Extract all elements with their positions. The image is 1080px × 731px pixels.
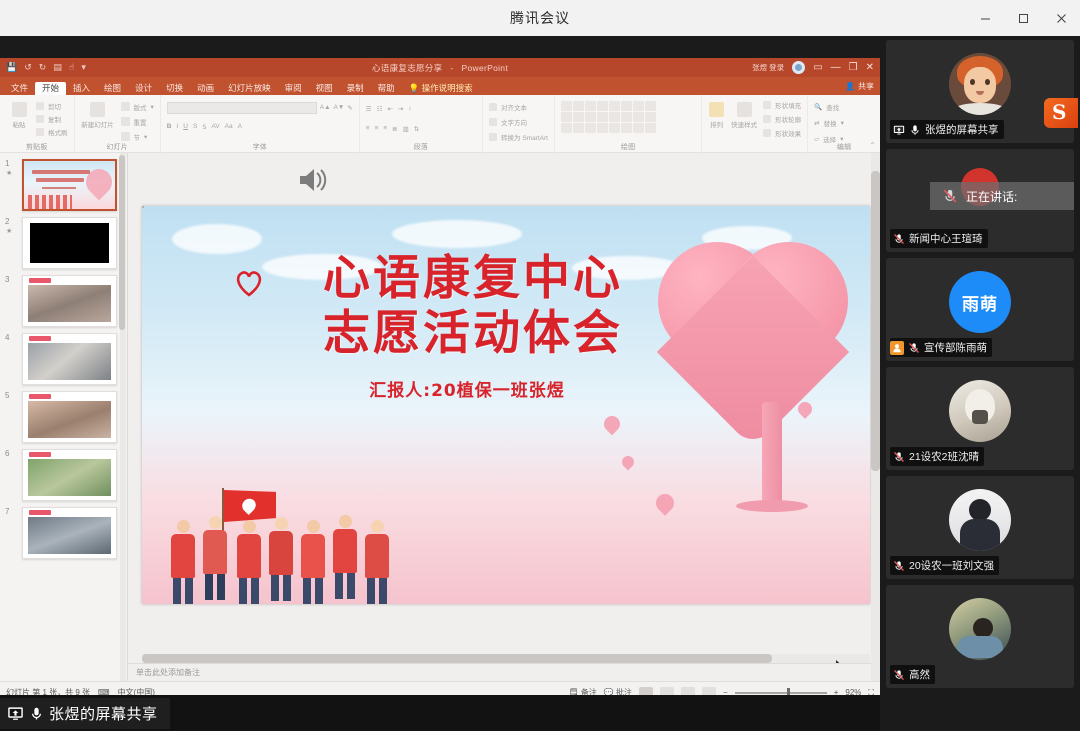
microphone-muted-icon <box>893 233 905 245</box>
slide-thumbnail-6[interactable]: 6 <box>22 449 117 501</box>
ribbon-group-clipboard: 粘贴 剪切 复制 格式刷 剪贴板 <box>0 95 75 153</box>
avatar-initials: 雨萌 <box>962 290 998 315</box>
slide-thumbnail-7[interactable]: 7 <box>22 507 117 559</box>
align-left-icon[interactable]: ≡ <box>366 125 370 132</box>
justify-icon[interactable]: ≣ <box>392 125 397 133</box>
font-color-icon[interactable]: A <box>238 123 242 130</box>
numbering-icon[interactable]: ☷ <box>377 105 383 113</box>
notes-placeholder: 单击此处添加备注 <box>136 667 200 678</box>
strikethrough-icon[interactable]: S <box>193 123 197 130</box>
participant-nameplate: 21设农2班沈晴 <box>890 447 984 466</box>
speaking-label: 正在讲话: <box>966 188 1017 205</box>
touch-mode-icon[interactable]: ☝ <box>69 63 74 72</box>
avatar <box>949 489 1011 551</box>
thumbnail-number: 4 <box>5 333 9 342</box>
slide-canvas-pane: 心语康复中心 志愿活动体会 汇报人:20植保一班张煜 <box>128 153 880 681</box>
find-label[interactable]: 查找 <box>826 102 839 112</box>
microphone-muted-icon <box>893 669 905 681</box>
microphone-muted-icon <box>893 560 905 572</box>
avatar: 雨萌 <box>949 271 1011 333</box>
decorative-volunteers-illustration <box>164 484 414 604</box>
italic-icon[interactable]: I <box>176 123 178 130</box>
slide-subtitle-textbox[interactable]: 汇报人:20植保一班张煜 <box>302 376 632 401</box>
thumbnail-number: 3 <box>5 275 9 284</box>
slide-thumbnail-5[interactable]: 5 <box>22 391 117 443</box>
replace-label[interactable]: 替换 <box>824 118 837 128</box>
slide-title-line1: 心语康复中心 <box>238 251 708 306</box>
tab-help[interactable]: 帮助 <box>371 82 402 96</box>
participant-tile-2[interactable]: 雨萌 宣传部陈雨萌 <box>886 258 1074 361</box>
thumbnail-image <box>22 391 117 443</box>
minimize-icon[interactable] <box>966 0 1004 36</box>
microphone-icon <box>909 124 921 136</box>
replace-icon: ⇄ <box>814 119 819 127</box>
start-slideshow-icon[interactable]: ▤ <box>53 63 62 72</box>
quick-styles-label: 快速样式 <box>731 119 757 129</box>
host-badge-icon <box>890 341 904 355</box>
quick-styles-button[interactable]: 快速样式 <box>731 98 757 132</box>
account-label[interactable]: 张煜 登录 <box>752 62 784 73</box>
pp-close-icon[interactable]: ✕ <box>866 63 874 73</box>
search-icon: 🔍 <box>814 103 822 111</box>
group-label-font: 字体 <box>161 142 359 152</box>
slide-thumbnail-4[interactable]: 4 <box>22 333 117 385</box>
participant-tile-4[interactable]: 20设农一班刘文强 <box>886 476 1074 579</box>
ribbon-group-font: A▲ A▼ ✎ B I U S ꓢ AV Aa A 字体 <box>161 95 360 153</box>
shape-outline-label[interactable]: 形状轮廓 <box>775 114 801 124</box>
participant-tile-3[interactable]: 21设农2班沈晴 <box>886 367 1074 470</box>
avatar <box>949 598 1011 660</box>
tab-transitions[interactable]: 切换 <box>159 82 190 96</box>
tab-review[interactable]: 审阅 <box>278 82 309 96</box>
lightbulb-icon: 💡 <box>409 83 420 93</box>
slide-thumbnail-1[interactable]: 1 ★ <box>22 159 117 211</box>
decrease-font-size-icon[interactable]: A▼ <box>334 104 345 111</box>
thumbnail-number: 7 <box>5 507 9 516</box>
tab-insert[interactable]: 插入 <box>66 82 97 96</box>
avatar <box>949 380 1011 442</box>
participant-tile-1[interactable]: 正在讲话: 新闻中心王瑄琦 <box>886 149 1074 252</box>
pp-minimize-icon[interactable]: — <box>831 63 841 73</box>
thumbnail-image <box>22 449 117 501</box>
screen-share-icon <box>7 705 24 722</box>
participant-name: 新闻中心王瑄琦 <box>909 231 983 246</box>
meeting-body: 💾 ↺ ↻ ▤ ☝ ▾ 心语康复志愿分享 - PowerPoint 张煜 登录 … <box>0 36 1080 731</box>
drawing-arrange-styles: 排列 快速样式 形状填充 形状轮廓 形状效果 <box>702 95 808 153</box>
sogou-ime-icon[interactable]: S <box>1044 94 1078 134</box>
slide-thumbnail-pane[interactable]: 1 ★ 2 ★ 3 <box>0 153 128 681</box>
increase-indent-icon[interactable]: ⇥ <box>398 105 403 113</box>
tab-animations[interactable]: 动画 <box>190 82 221 96</box>
slide-thumbnail-2[interactable]: 2 ★ <box>22 217 117 269</box>
thumbnail-play-icon: ★ <box>6 169 12 177</box>
powerpoint-workspace: 1 ★ 2 ★ 3 <box>0 153 880 681</box>
text-direction-icon[interactable]: ⇅ <box>414 125 419 133</box>
canvas-horizontal-scrollbar[interactable] <box>142 654 870 663</box>
new-slide-label: 新建幻灯片 <box>81 119 114 129</box>
tab-view[interactable]: 视图 <box>309 82 340 96</box>
slide-editing-area[interactable]: 心语康复中心 志愿活动体会 汇报人:20植保一班张煜 <box>142 206 870 604</box>
format-painter-label[interactable]: 格式刷 <box>48 127 68 137</box>
tab-slideshow[interactable]: 幻灯片放映 <box>221 82 278 96</box>
text-shadow-icon[interactable]: ꓢ <box>202 123 206 131</box>
save-icon[interactable]: 💾 <box>6 63 17 72</box>
increase-font-size-icon[interactable]: A▲ <box>320 104 331 111</box>
rail-footer <box>880 695 1080 731</box>
meeting-title-bar: 腾讯会议 <box>0 0 1080 36</box>
audio-speaker-icon[interactable] <box>296 165 330 195</box>
thumbnail-image <box>22 217 117 269</box>
pp-restore-icon[interactable]: ❐ <box>849 63 858 73</box>
microphone-icon <box>29 705 44 722</box>
microphone-muted-icon <box>893 451 905 463</box>
decrease-indent-icon[interactable]: ⇤ <box>387 105 392 113</box>
align-center-icon[interactable]: ≡ <box>375 125 379 132</box>
group-label-clipboard: 剪贴板 <box>0 142 74 152</box>
participant-nameplate: 宣传部陈雨萌 <box>890 338 992 357</box>
ribbon-tab-strip[interactable]: 文件 开始 插入 绘图 设计 切换 动画 幻灯片放映 审阅 视图 录制 帮助 💡… <box>0 77 880 95</box>
ribbon-group-drawing: 绘图 <box>555 95 702 153</box>
maximize-icon[interactable] <box>1004 0 1042 36</box>
participant-nameplate: 高然 <box>890 665 935 684</box>
participant-nameplate: 20设农一班刘文强 <box>890 556 999 575</box>
character-spacing-icon[interactable]: AV <box>211 123 219 130</box>
thumbnail-image <box>22 333 117 385</box>
slide-title-textbox[interactable]: 心语康复中心 志愿活动体会 <box>238 251 708 362</box>
align-right-icon[interactable]: ≡ <box>383 125 387 132</box>
participant-name: 高然 <box>909 667 930 682</box>
powerpoint-title-bar: 💾 ↺ ↻ ▤ ☝ ▾ 心语康复志愿分享 - PowerPoint 张煜 登录 … <box>0 58 880 77</box>
customize-qat-icon[interactable]: ▾ <box>81 63 86 72</box>
line-spacing-icon[interactable]: ↕ <box>408 105 411 112</box>
align-text-label[interactable]: 对齐文本 <box>501 102 527 112</box>
underline-icon[interactable]: U <box>183 123 188 130</box>
canvas-vertical-scrollbar[interactable] <box>871 153 880 681</box>
screen-share-icon <box>893 124 905 136</box>
tab-home[interactable]: 开始 <box>35 82 66 96</box>
share-person-icon: 👤 <box>845 82 855 91</box>
cut-label[interactable]: 剪切 <box>48 101 61 111</box>
thumbnail-image <box>22 275 117 327</box>
redo-icon[interactable]: ↻ <box>39 63 47 72</box>
participant-name: 宣传部陈雨萌 <box>924 340 987 355</box>
shared-screen-powerpoint: 💾 ↺ ↻ ▤ ☝ ▾ 心语康复志愿分享 - PowerPoint 张煜 登录 … <box>0 58 880 703</box>
powerpoint-document-title: 心语康复志愿分享 - PowerPoint <box>0 62 880 74</box>
layout-label[interactable]: 版式 <box>134 102 147 112</box>
close-icon[interactable] <box>1042 0 1080 36</box>
sogou-ime-glyph: S <box>1052 102 1066 122</box>
share-button[interactable]: 👤 共享 <box>839 81 880 95</box>
participant-name: 张煜的屏幕共享 <box>925 122 999 137</box>
bullets-icon[interactable]: ☰ <box>366 105 372 113</box>
text-direction-label[interactable]: 文字方向 <box>501 117 527 127</box>
shape-gallery[interactable] <box>561 101 695 133</box>
thumbnail-image <box>22 159 117 211</box>
section-label[interactable]: 节 <box>134 132 141 142</box>
new-slide-button[interactable]: 新建幻灯片 <box>81 98 115 132</box>
meeting-bottom-bar: 张煜的屏幕共享 <box>0 695 880 731</box>
meeting-title: 腾讯会议 <box>510 8 570 28</box>
participant-name: 21设农2班沈晴 <box>909 449 979 464</box>
speaking-toast: 正在讲话: <box>930 182 1074 210</box>
avatar[interactable] <box>792 61 805 74</box>
shape-fill-label[interactable]: 形状填充 <box>775 100 801 110</box>
bold-icon[interactable]: B <box>167 123 172 130</box>
powerpoint-account-area: 张煜 登录 ▭ — ❐ ✕ <box>752 61 880 74</box>
window-controls <box>966 0 1080 36</box>
arrange-button[interactable]: 排列 <box>708 98 725 132</box>
paste-button[interactable]: 粘贴 <box>6 98 32 132</box>
collapse-ribbon-icon[interactable]: ⌃ <box>869 141 876 150</box>
shape-effects-label[interactable]: 形状效果 <box>775 128 801 138</box>
avatar <box>949 53 1011 115</box>
tab-file[interactable]: 文件 <box>4 82 35 96</box>
thumbnail-number: 1 <box>5 159 9 168</box>
ribbon-body: 粘贴 剪切 复制 格式刷 剪贴板 新建幻灯片 <box>0 95 880 153</box>
screen-share-status-chip[interactable]: 张煜的屏幕共享 <box>0 698 170 729</box>
thumbnail-image <box>22 507 117 559</box>
tell-me-search[interactable]: 💡 操作说明搜索 <box>402 82 480 96</box>
thumbnail-play-icon: ★ <box>6 227 12 235</box>
columns-icon[interactable]: ▥ <box>403 125 409 133</box>
undo-icon[interactable]: ↺ <box>24 63 32 72</box>
thumbnail-scrollbar[interactable] <box>120 153 126 681</box>
font-family-input[interactable] <box>167 102 317 114</box>
ribbon-group-paragraph: ☰ ☷ ⇤ ⇥ ↕ ≡ ≡ ≡ ≣ ▥ ⇅ 段落 <box>360 95 483 153</box>
notes-pane[interactable]: 单击此处添加备注 <box>128 663 880 681</box>
microphone-muted-icon <box>908 342 920 354</box>
ribbon-group-slides: 新建幻灯片 版式▾ 重置 节▾ 幻灯片 <box>75 95 161 153</box>
slide-title-line2: 志愿活动体会 <box>238 306 708 361</box>
arrange-label: 排列 <box>710 119 723 129</box>
clear-formatting-icon[interactable]: ✎ <box>347 104 352 112</box>
meeting-window: 腾讯会议 💾 ↺ ↻ ▤ ☝ ▾ <box>0 0 1080 731</box>
quick-access-toolbar[interactable]: 💾 ↺ ↻ ▤ ☝ ▾ <box>0 63 86 72</box>
share-status-label: 张煜的屏幕共享 <box>49 703 158 724</box>
change-case-icon[interactable]: Aa <box>225 123 233 130</box>
participant-nameplate: 张煜的屏幕共享 <box>890 120 1004 139</box>
tab-draw[interactable]: 绘图 <box>97 82 128 96</box>
microphone-muted-icon <box>942 188 958 204</box>
decorative-tree-trunk <box>762 402 782 512</box>
tab-record[interactable]: 录制 <box>340 82 371 96</box>
heart-outline-icon <box>234 269 264 297</box>
participant-tile-5[interactable]: 高然 <box>886 585 1074 688</box>
tab-design[interactable]: 设计 <box>128 82 159 96</box>
thumbnail-number: 2 <box>5 217 9 226</box>
participant-rail[interactable]: 张煜的屏幕共享 正在讲话: <box>880 36 1080 731</box>
slide-thumbnail-3[interactable]: 3 <box>22 275 117 327</box>
group-label-slides: 幻灯片 <box>75 142 160 152</box>
thumbnail-number: 6 <box>5 449 9 458</box>
ribbon-display-options-icon[interactable]: ▭ <box>813 63 822 73</box>
convert-smartart-label[interactable]: 转换为 SmartArt <box>501 132 548 142</box>
thumbnail-number: 5 <box>5 391 9 400</box>
participant-name: 20设农一班刘文强 <box>909 558 994 573</box>
participant-nameplate: 新闻中心王瑄琦 <box>890 229 988 248</box>
paste-label: 粘贴 <box>13 119 26 129</box>
copy-label[interactable]: 复制 <box>48 114 61 124</box>
reset-label[interactable]: 重置 <box>134 117 147 127</box>
group-label-paragraph: 段落 <box>360 142 482 152</box>
paragraph-extra-commands: 对齐文本 文字方向 转换为 SmartArt <box>483 95 555 153</box>
group-label-drawing: 绘图 <box>555 142 701 152</box>
